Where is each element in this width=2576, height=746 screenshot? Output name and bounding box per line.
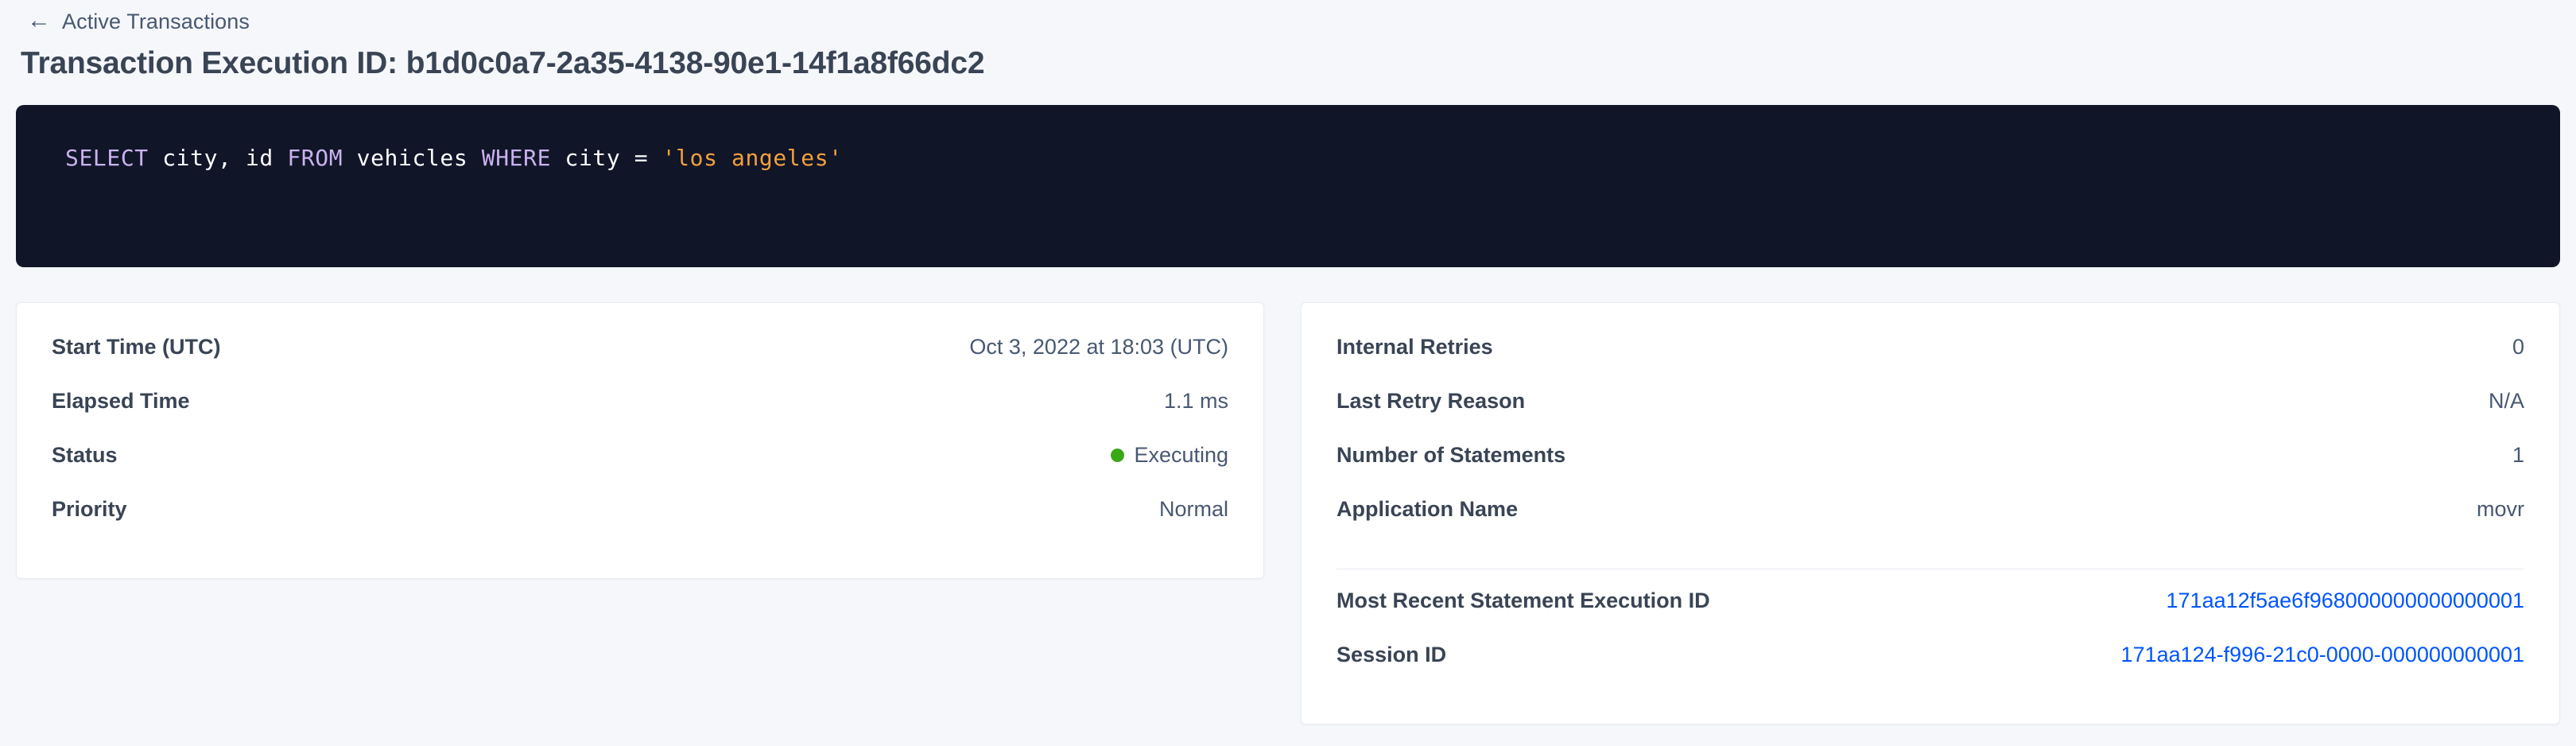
breadcrumb-label[interactable]: Active Transactions [62,10,250,34]
sql-identifiers-1: city, id [149,145,288,171]
sql-query-line: SELECT city, id FROM vehicles WHERE city… [65,145,2560,172]
row-elapsed-time: Elapsed Time 1.1 ms [52,389,1228,443]
row-number-of-statements: Number of Statements 1 [1336,443,2524,497]
row-label: Most Recent Statement Execution ID [1336,589,1710,613]
row-value: 0 [2512,335,2524,359]
row-label: Start Time (UTC) [52,335,221,359]
sql-keyword-from: FROM [287,145,343,171]
status-dot-icon [1111,449,1124,462]
row-label: Number of Statements [1336,443,1565,468]
statement-execution-id-link[interactable]: 171aa12f5ae6f968000000000000001 [2167,589,2524,613]
sql-keyword-where: WHERE [482,145,551,171]
row-value: 1.1 ms [1164,389,1228,414]
row-label: Internal Retries [1336,335,1493,359]
status-label: Executing [1134,443,1228,468]
row-label: Status [52,443,118,468]
row-value: Oct 3, 2022 at 18:03 (UTC) [969,335,1228,359]
row-session-id: Session ID 171aa124-f996-21c0-0000-00000… [1336,643,2524,697]
sql-identifiers-3: city = [551,145,662,171]
row-status: Status Executing [52,443,1228,497]
row-label: Priority [52,497,127,522]
page-title: Transaction Execution ID: b1d0c0a7-2a35-… [0,35,2576,81]
row-value: N/A [2489,389,2524,414]
sql-identifiers-2: vehicles [343,145,482,171]
row-value: movr [2477,497,2524,522]
row-label: Application Name [1336,497,1518,522]
row-most-recent-statement-execution-id: Most Recent Statement Execution ID 171aa… [1336,589,2524,643]
row-start-time: Start Time (UTC) Oct 3, 2022 at 18:03 (U… [52,335,1228,389]
transaction-details-page: ← Active Transactions Transaction Execut… [0,0,2576,746]
sql-string-literal: 'los angeles' [662,145,843,171]
row-application-name: Application Name movr [1336,497,2524,551]
sql-keyword-select: SELECT [65,145,149,171]
sql-code-block: SELECT city, id FROM vehicles WHERE city… [16,105,2560,267]
row-priority: Priority Normal [52,497,1228,551]
status-badge: Executing [1111,443,1228,468]
transaction-stats-panel: Internal Retries 0 Last Retry Reason N/A… [1301,302,2560,725]
row-internal-retries: Internal Retries 0 [1336,335,2524,389]
session-id-link[interactable]: 171aa124-f996-21c0-0000-000000000001 [2121,643,2524,667]
row-last-retry-reason: Last Retry Reason N/A [1336,389,2524,443]
row-label: Elapsed Time [52,389,190,414]
row-value: Normal [1159,497,1228,522]
arrow-left-icon[interactable]: ← [27,9,51,33]
panel-divider [1336,569,2524,569]
details-panels: Start Time (UTC) Oct 3, 2022 at 18:03 (U… [0,267,2576,725]
row-label: Last Retry Reason [1336,389,1525,414]
row-value: 1 [2512,443,2524,468]
row-label: Session ID [1336,643,1446,667]
breadcrumb[interactable]: ← Active Transactions [0,0,2576,35]
transaction-overview-panel: Start Time (UTC) Oct 3, 2022 at 18:03 (U… [16,302,1264,579]
